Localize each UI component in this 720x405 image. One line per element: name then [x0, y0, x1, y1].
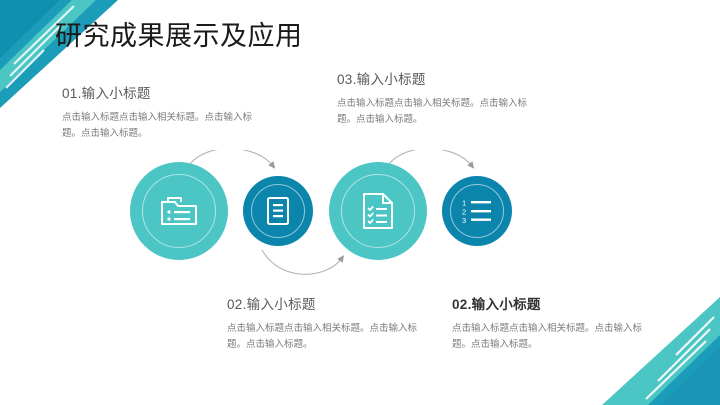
folder-list-icon	[160, 195, 198, 227]
arrow-node1-to-node2	[190, 150, 273, 166]
diagram-node-4[interactable]: 1 2 3	[442, 176, 512, 246]
text-block-01: 01.输入小标题 点击输入标题点击输入相关标题。点击输入标题。点击输入标题。	[62, 84, 252, 142]
arrow-node2-to-node3	[262, 250, 342, 274]
checklist-page-icon	[362, 192, 394, 230]
text-block-02: 02.输入小标题 点击输入标题点击输入相关标题。点击输入标题。点击输入标题。	[227, 295, 423, 353]
block-03-heading: 03.输入小标题	[337, 70, 533, 89]
numbered-list-icon: 1 2 3	[462, 198, 492, 224]
svg-text:3: 3	[462, 216, 466, 224]
document-lines-icon	[266, 196, 290, 226]
block-01-body: 点击输入标题点击输入相关标题。点击输入标题。点击输入标题。	[62, 110, 252, 142]
block-01-heading: 01.输入小标题	[62, 84, 252, 103]
slide-canvas: 研究成果展示及应用 01.输入小标题 点击输入标题点击输入相关标题。点击输入标题…	[0, 0, 720, 405]
process-diagram: 1 2 3	[130, 150, 540, 290]
diagram-node-1[interactable]	[130, 162, 228, 260]
block-04-heading: 02.输入小标题	[452, 295, 652, 314]
diagram-node-3[interactable]	[329, 162, 427, 260]
text-block-03: 03.输入小标题 点击输入标题点击输入相关标题。点击输入标题。点击输入标题。	[337, 70, 533, 128]
block-04-body: 点击输入标题点击输入相关标题。点击输入标题。点击输入标题。	[452, 321, 652, 353]
text-block-04: 02.输入小标题 点击输入标题点击输入相关标题。点击输入标题。点击输入标题。	[452, 295, 652, 353]
arrow-node3-to-node4	[389, 150, 472, 166]
block-02-body: 点击输入标题点击输入相关标题。点击输入标题。点击输入标题。	[227, 321, 423, 353]
svg-text:1: 1	[462, 199, 466, 208]
block-02-heading: 02.输入小标题	[227, 295, 423, 314]
block-03-body: 点击输入标题点击输入相关标题。点击输入标题。点击输入标题。	[337, 96, 533, 128]
diagram-node-2[interactable]	[243, 176, 313, 246]
page-title: 研究成果展示及应用	[55, 19, 303, 53]
